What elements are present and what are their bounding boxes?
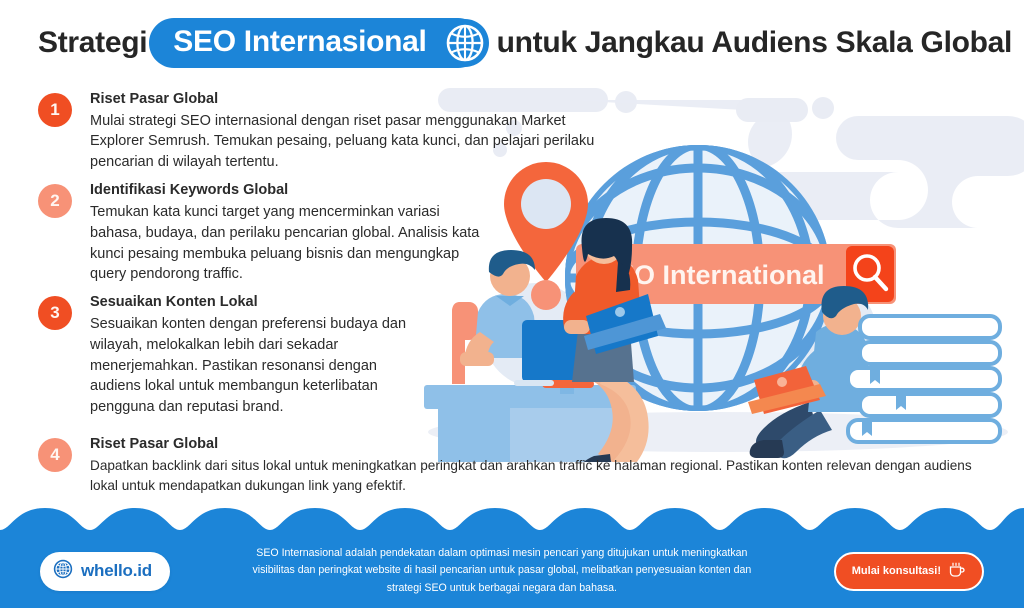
step-number-badge: 2 [38, 184, 72, 218]
step-item: 2 Identifikasi Keywords Global Temukan k… [38, 181, 598, 285]
coffee-cup-icon [948, 561, 966, 582]
page-title: Strategi SEO Internasional untuk Jangkau… [38, 18, 1012, 68]
step-item: 4 Riset Pasar Global Dapatkan backlink d… [38, 435, 998, 497]
step-number-badge: 3 [38, 296, 72, 330]
step-title: Riset Pasar Global [90, 435, 998, 455]
page-header: Strategi SEO Internasional untuk Jangkau… [0, 0, 1024, 86]
step-body: Dapatkan backlink dari situs lokal untuk… [90, 456, 998, 497]
step-number-badge: 4 [38, 438, 72, 472]
step-body: Mulai strategi SEO internasional dengan … [90, 111, 598, 174]
cta-label: Mulai konsultasi! [852, 565, 941, 577]
page-footer: whello.id SEO Internasional adalah pende… [0, 504, 1024, 608]
step-body: Sesuaikan konten dengan preferensi buday… [90, 314, 422, 418]
globe-icon [441, 19, 489, 67]
steps-list: 1 Riset Pasar Global Mulai strategi SEO … [38, 90, 598, 426]
page-title-suffix: untuk Jangkau Audiens Skala Global [497, 26, 1012, 60]
globe-icon [53, 559, 73, 584]
book-stack [848, 316, 1000, 442]
step-body: Temukan kata kunci target yang mencermin… [90, 202, 490, 286]
footer-description: SEO Internasional adalah pendekatan dala… [242, 545, 762, 596]
page-title-pill-wrap: SEO Internasional [149, 18, 482, 68]
brand-logo[interactable]: whello.id [40, 552, 170, 591]
step-title: Riset Pasar Global [90, 90, 598, 110]
step-title: Identifikasi Keywords Global [90, 181, 598, 201]
step-title: Sesuaikan Konten Lokal [90, 293, 598, 313]
step-item: 1 Riset Pasar Global Mulai strategi SEO … [38, 90, 598, 173]
page-title-pill: SEO Internasional [149, 18, 482, 68]
start-consultation-button[interactable]: Mulai konsultasi! [834, 552, 984, 591]
page-title-prefix: Strategi [38, 26, 147, 60]
step-item: 3 Sesuaikan Konten Lokal Sesuaikan konte… [38, 293, 598, 418]
step-number-badge: 1 [38, 93, 72, 127]
brand-logo-text: whello.id [81, 561, 152, 581]
